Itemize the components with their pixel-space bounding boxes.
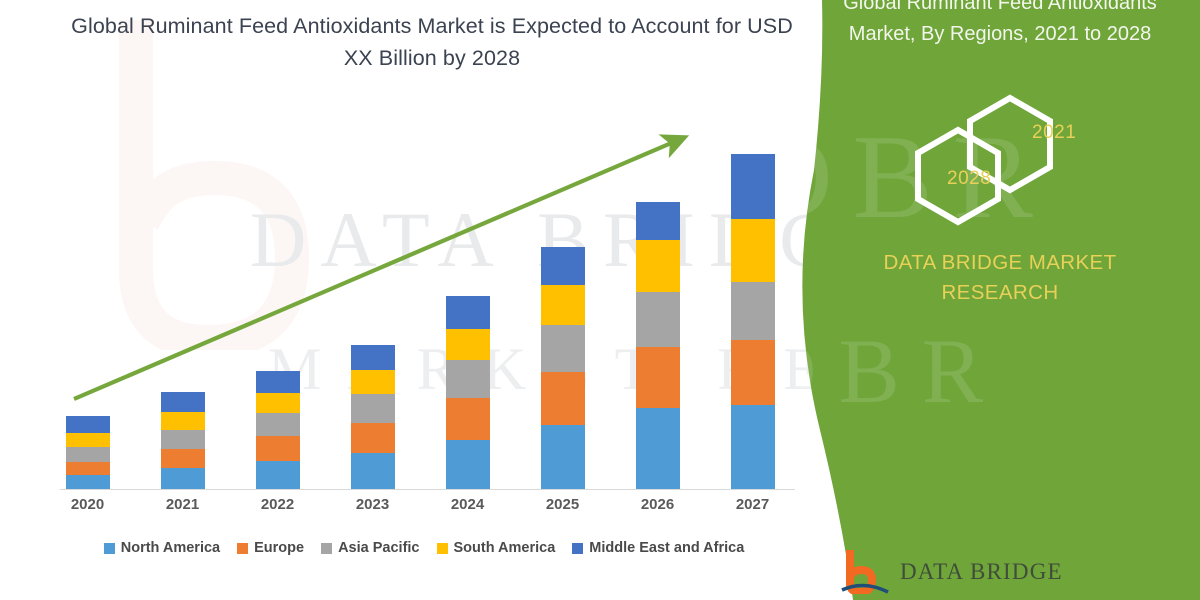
bar-segment [351,394,395,422]
legend-item[interactable]: Europe [237,540,304,556]
bar-segment [541,247,585,285]
bar-segment [351,423,395,453]
brand-line-2: RESEARCH [820,278,1180,308]
bar-segment [446,440,490,489]
x-axis-label: 2027 [723,496,783,513]
stacked-bar-2027[interactable] [731,154,775,489]
bar-segment [446,329,490,360]
bar-segment [636,240,680,292]
x-axis-label: 2026 [628,496,688,513]
legend-item[interactable]: Asia Pacific [321,540,419,556]
x-axis-label: 2021 [153,496,213,513]
stacked-bar-2020[interactable] [66,416,110,489]
bar-segment [66,416,110,433]
bar-segment [541,372,585,424]
bar-segment [66,447,110,461]
legend-swatch [237,543,248,554]
legend-label: Middle East and Africa [589,540,744,556]
bar-segment [256,413,300,436]
legend-item[interactable]: South America [437,540,556,556]
bar-segment [256,461,300,489]
bar-segment [636,408,680,489]
legend-swatch [437,543,448,554]
x-axis-label: 2024 [438,496,498,513]
bar-segment [161,412,205,430]
hexagon-shapes [910,92,1110,232]
bar-segment [446,360,490,398]
legend-item[interactable]: North America [104,540,220,556]
x-axis-label: 2020 [58,496,118,513]
bar-segment [731,340,775,404]
brand-name: DATA BRIDGE MARKET RESEARCH [820,248,1180,308]
bar-segment [731,219,775,282]
bar-segment [161,449,205,468]
bar-segment [446,398,490,440]
bar-segment [541,285,585,325]
page-title: Global Ruminant Feed Antioxidants Market… [62,10,802,74]
chart-plot-area [40,110,800,490]
stacked-bar-group [40,110,800,489]
x-axis-line [60,489,795,490]
chart-legend: North AmericaEuropeAsia PacificSouth Ame… [44,540,804,556]
stacked-bar-2022[interactable] [256,371,300,489]
x-axis-label: 2025 [533,496,593,513]
bar-segment [256,436,300,461]
stacked-bar-2025[interactable] [541,247,585,489]
hexagon-group: 2021 2028 [910,92,1110,232]
legend-swatch [572,543,583,554]
bar-segment [351,453,395,489]
legend-label: Europe [254,540,304,556]
bar-segment [66,475,110,489]
bar-segment [541,425,585,489]
legend-label: South America [454,540,556,556]
bar-segment [731,405,775,489]
hexagon-2021-label: 2021 [1032,122,1076,144]
footer-logo-text: DATA BRIDGE [900,559,1063,585]
panel-title: Global Ruminant Feed Antioxidants Market… [810,0,1190,50]
x-axis-labels: 20202021202220232024202520262027 [40,496,800,513]
x-axis-label: 2023 [343,496,403,513]
bar-segment [731,282,775,341]
bar-segment [351,370,395,395]
chart-infographic: DATA BRIDGE MARKET RES Global Ruminant F… [0,0,1200,600]
branding-panel: DBR DBR Global Ruminant Feed Antioxidant… [780,0,1200,600]
legend-label: Asia Pacific [338,540,419,556]
bar-segment [446,296,490,329]
bar-segment [731,154,775,219]
legend-swatch [321,543,332,554]
bar-segment [636,292,680,347]
bar-segment [66,433,110,447]
hexagon-2028-label: 2028 [947,168,991,190]
legend-item[interactable]: Middle East and Africa [572,540,744,556]
bar-segment [351,345,395,370]
stacked-bar-2021[interactable] [161,392,205,489]
b-logo-icon [840,550,890,594]
bar-segment [161,430,205,449]
legend-label: North America [121,540,220,556]
stacked-bar-2023[interactable] [351,345,395,489]
bar-segment [636,202,680,240]
stacked-bar-2024[interactable] [446,296,490,489]
bar-segment [66,462,110,475]
stacked-bar-2026[interactable] [636,202,680,489]
bar-segment [161,468,205,489]
bar-segment [636,347,680,409]
x-axis-label: 2022 [248,496,308,513]
legend-swatch [104,543,115,554]
footer-logo: DATA BRIDGE [840,550,1063,594]
bar-segment [256,371,300,394]
bar-segment [256,393,300,413]
bar-segment [541,325,585,372]
bar-segment [161,392,205,412]
brand-line-1: DATA BRIDGE MARKET [820,248,1180,278]
